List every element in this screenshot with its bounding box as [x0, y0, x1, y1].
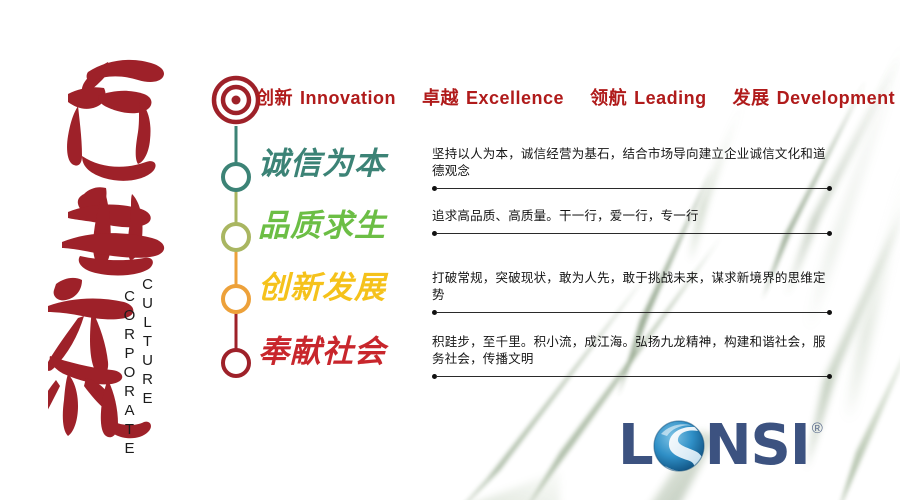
logo-text-post: NSI — [705, 418, 810, 474]
rule-dot-right — [827, 231, 832, 236]
rule-bar — [436, 188, 828, 189]
timeline-node-1 — [223, 224, 249, 250]
globe-swirl-icon — [651, 418, 707, 474]
timeline-node-3 — [223, 350, 249, 376]
value-desc-block: 打破常规，突破现状，敢为人先，敢于挑战未来，谋求新境界的思维定势 — [432, 270, 838, 316]
keyword-leading-cn: 领航 — [590, 88, 627, 108]
value-row: 品质求生 追求高品质、高质量。干一行，爱一行，专一行 — [258, 206, 878, 268]
rule-bar — [436, 376, 828, 377]
keyword-development-en: Development — [777, 88, 896, 108]
rule-dot-right — [827, 310, 832, 315]
poster-canvas: CULTURE CORPORATE 创新Innovation 卓越Excelle… — [0, 0, 900, 500]
keyword-excellence: 卓越Excellence — [422, 84, 564, 110]
value-description: 积跬步，至千里。积小流，成江海。弘扬九龙精神，构建和谐社会，服务社会，传播文明 — [432, 334, 838, 368]
value-rule — [432, 373, 832, 380]
rule-dot-right — [827, 186, 832, 191]
value-row: 诚信为本 坚持以人为本，诚信经营为基石，结合市场导向建立企业诚信文化和道德观念 — [258, 144, 878, 206]
lonsi-logo: L NSI ® — [618, 418, 823, 474]
keyword-excellence-en: Excellence — [466, 88, 564, 108]
value-description: 追求高品质、高质量。干一行，爱一行，专一行 — [432, 208, 838, 225]
rule-dot-right — [827, 374, 832, 379]
value-title: 创新发展 — [258, 268, 386, 308]
keyword-innovation-en: Innovation — [300, 88, 396, 108]
keyword-development-cn: 发展 — [733, 88, 770, 108]
registered-mark-icon: ® — [812, 420, 823, 437]
value-rule — [432, 230, 832, 237]
keyword-leading-en: Leading — [634, 88, 707, 108]
value-rule — [432, 309, 832, 316]
value-description: 坚持以人为本，诚信经营为基石，结合市场导向建立企业诚信文化和道德观念 — [432, 146, 838, 180]
vertical-label-culture: CULTURE — [140, 276, 155, 409]
keyword-leading: 领航Leading — [590, 84, 707, 110]
value-title: 品质求生 — [258, 206, 386, 246]
value-desc-block: 积跬步，至千里。积小流，成江海。弘扬九龙精神，构建和谐社会，服务社会，传播文明 — [432, 334, 838, 380]
timeline-node-2 — [223, 286, 249, 312]
keyword-innovation: 创新Innovation — [256, 84, 396, 110]
timeline-target-marker — [214, 78, 258, 122]
keyword-innovation-cn: 创新 — [256, 88, 293, 108]
vertical-label-corporate: CORPORATE — [122, 288, 137, 459]
value-rule — [432, 185, 832, 192]
logo-text-pre: L — [618, 418, 653, 474]
value-row: 创新发展 打破常规，突破现状，敢为人先，敢于挑战未来，谋求新境界的思维定势 — [258, 268, 878, 330]
timeline-node-0 — [223, 164, 249, 190]
calligraphy-block: CULTURE CORPORATE — [48, 44, 198, 444]
rule-bar — [436, 312, 828, 313]
keyword-header: 创新Innovation 卓越Excellence 领航Leading 发展De… — [256, 84, 895, 110]
value-desc-block: 追求高品质、高质量。干一行，爱一行，专一行 — [432, 208, 838, 237]
keyword-development: 发展Development — [733, 84, 896, 110]
timeline-rail — [208, 72, 264, 392]
value-row: 奉献社会 积跬步，至千里。积小流，成江海。弘扬九龙精神，构建和谐社会，服务社会，… — [258, 332, 878, 394]
keyword-excellence-cn: 卓越 — [422, 88, 459, 108]
value-desc-block: 坚持以人为本，诚信经营为基石，结合市场导向建立企业诚信文化和道德观念 — [432, 146, 838, 192]
value-title: 奉献社会 — [258, 332, 386, 372]
rule-bar — [436, 233, 828, 234]
value-description: 打破常规，突破现状，敢为人先，敢于挑战未来，谋求新境界的思维定势 — [432, 270, 838, 304]
value-title: 诚信为本 — [258, 144, 386, 184]
